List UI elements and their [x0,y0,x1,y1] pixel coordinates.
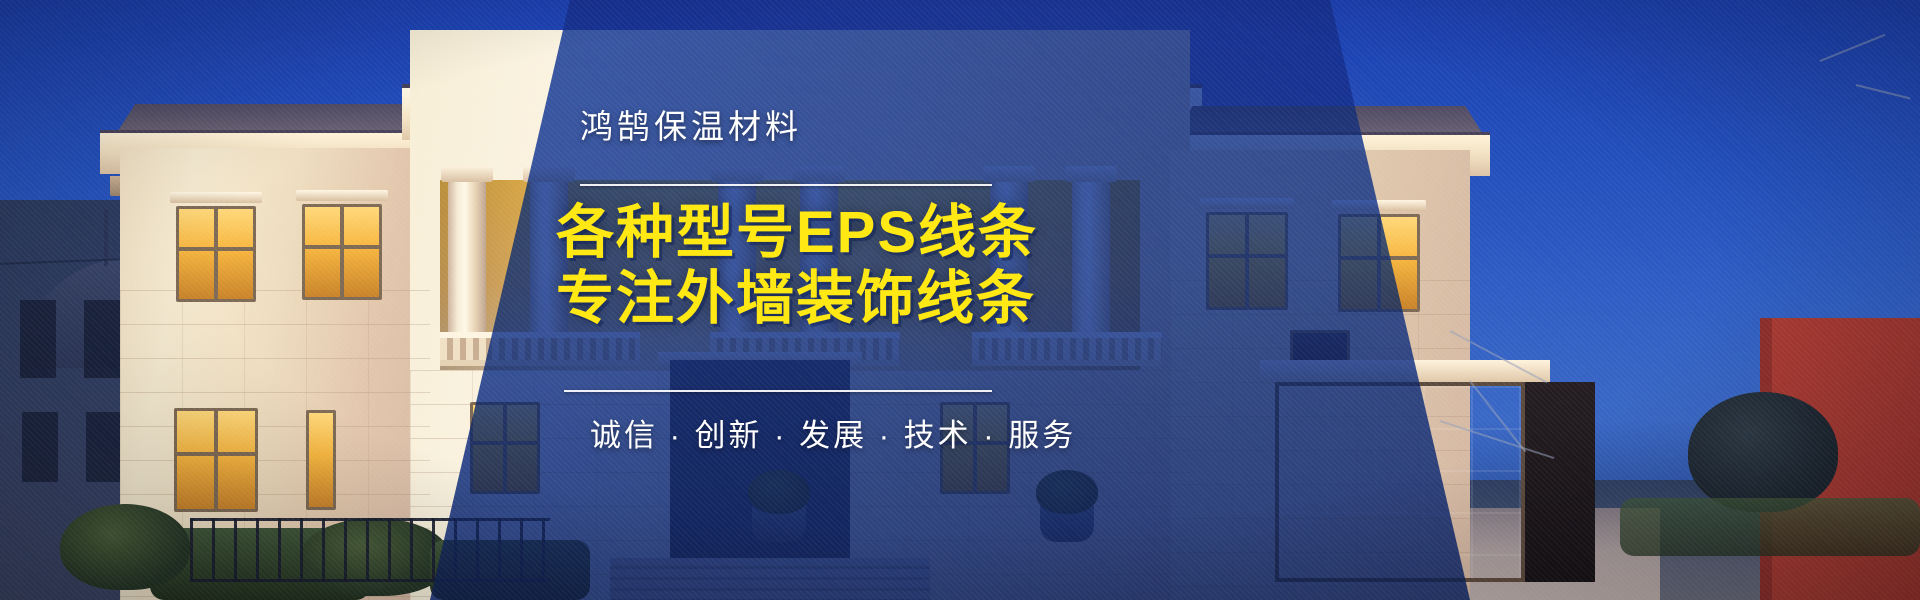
promotional-banner: 鸿鹄保温材料 各种型号EPS线条 专注外墙装饰线条 诚信 · 创新 · 发展 ·… [0,0,1920,600]
window-hood [296,190,388,201]
window [174,408,258,512]
window-narrow [306,410,336,510]
window [176,206,256,302]
window-hood [170,192,262,203]
tagline: 诚信 · 创新 · 发展 · 技术 · 服务 [590,410,1076,455]
window [302,204,382,300]
divider-bottom [564,390,992,392]
divider-top [580,184,992,186]
column [448,180,486,348]
banner-text-block: 鸿鹄保温材料 各种型号EPS线条 专注外墙装饰线条 诚信 · 创新 · 发展 ·… [556,0,1076,600]
headline-line-1: 各种型号EPS线条 [556,204,1038,262]
brand-subtitle: 鸿鹄保温材料 [580,100,802,148]
garage-side-opening [1525,382,1595,582]
headline-line-2: 专注外墙装饰线条 [556,270,1036,328]
